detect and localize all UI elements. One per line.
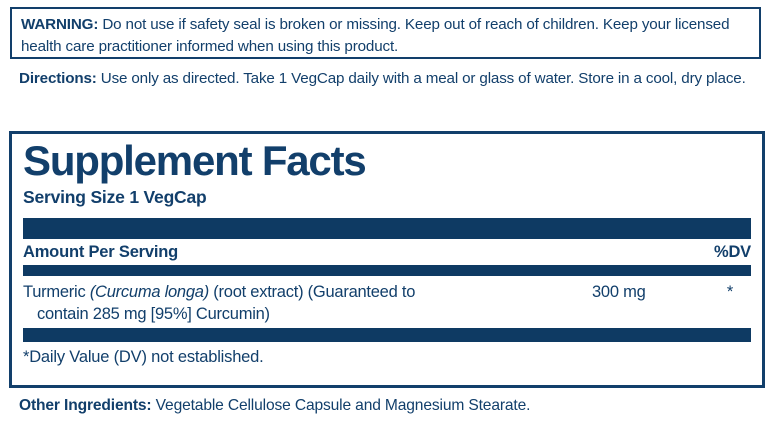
table-header-divider-bar [23, 265, 751, 276]
other-ingredients-label: Other Ingredients: [19, 397, 151, 414]
supplement-facts-panel: Supplement Facts Serving Size 1 VegCap A… [9, 131, 765, 388]
directions-label: Directions: [19, 70, 97, 87]
supplement-facts-title: Supplement Facts [23, 134, 751, 184]
table-bottom-bar [23, 328, 751, 342]
supplement-label-page: WARNING: Do not use if safety seal is br… [0, 0, 773, 426]
table-top-bar [23, 218, 751, 239]
ingredient-amount: 300 mg [563, 281, 708, 303]
amount-per-serving-header: Amount Per Serving [23, 243, 178, 262]
warning-label: WARNING: [21, 16, 98, 33]
ingredient-name-part2: (root extract) (Guaranteed to [209, 283, 415, 301]
table-header-row: Amount Per Serving %DV [23, 239, 751, 262]
ingredient-name: Turmeric (Curcuma longa) (root extract) … [23, 281, 563, 325]
directions-text: Directions: Use only as directed. Take 1… [19, 68, 764, 90]
other-ingredients-text: Other Ingredients: Vegetable Cellulose C… [19, 395, 764, 416]
ingredient-botanical-name: (Curcuma longa) [90, 283, 209, 301]
warning-body: Do not use if safety seal is broken or m… [21, 16, 729, 55]
warning-box: WARNING: Do not use if safety seal is br… [10, 7, 761, 59]
supplement-facts-inner: Supplement Facts Serving Size 1 VegCap A… [23, 134, 751, 385]
other-ingredients-body: Vegetable Cellulose Capsule and Magnesiu… [151, 397, 530, 414]
ingredient-daily-value: * [708, 281, 751, 303]
directions-body: Use only as directed. Take 1 VegCap dail… [97, 70, 746, 87]
ingredient-name-part1: Turmeric [23, 283, 90, 301]
daily-value-footnote: *Daily Value (DV) not established. [23, 342, 751, 367]
warning-text: WARNING: Do not use if safety seal is br… [21, 14, 750, 57]
table-row: Turmeric (Curcuma longa) (root extract) … [23, 276, 751, 325]
serving-size: Serving Size 1 VegCap [23, 184, 751, 208]
daily-value-header: %DV [714, 243, 751, 262]
ingredient-name-continuation: contain 285 mg [95%] Curcumin) [23, 303, 563, 325]
